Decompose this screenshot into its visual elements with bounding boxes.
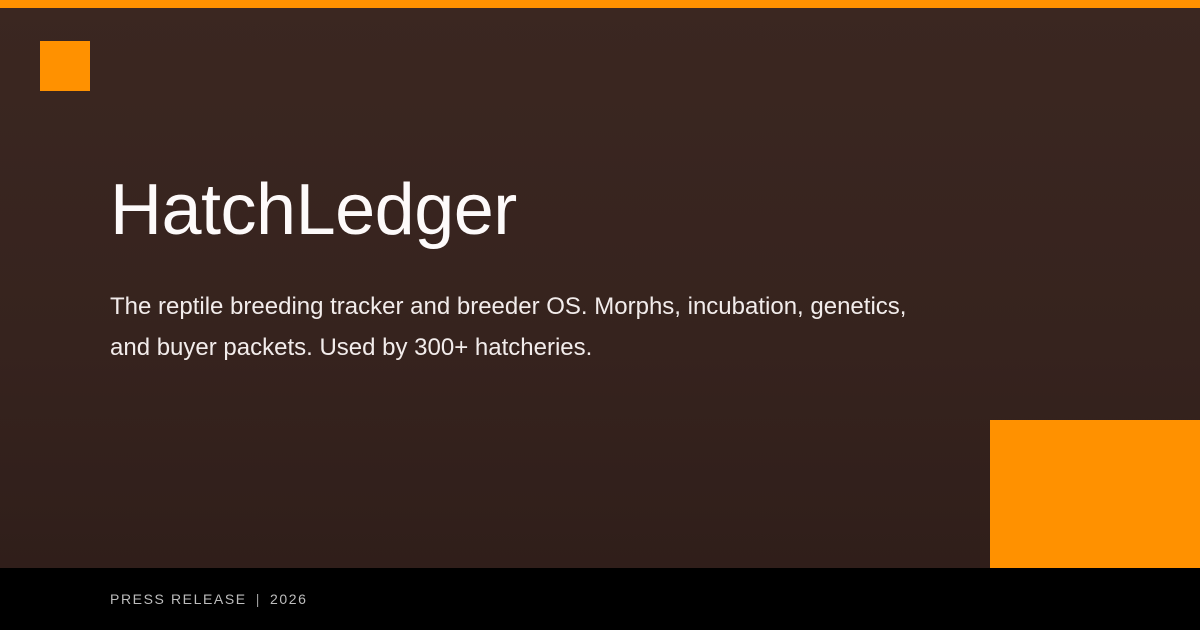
footer-year: 2026 (270, 591, 308, 607)
logo-mark-icon (40, 41, 90, 91)
top-accent-rule (0, 0, 1200, 8)
page-title: HatchLedger (110, 168, 517, 252)
footer-bar: PRESS RELEASE | 2026 (0, 568, 1200, 630)
accent-block-decoration (990, 420, 1200, 568)
footer-separator: | (247, 591, 270, 607)
footer-label: PRESS RELEASE (110, 591, 247, 607)
footer-meta: PRESS RELEASE | 2026 (110, 568, 308, 630)
page-subtitle: The reptile breeding tracker and breeder… (110, 286, 950, 368)
press-release-slide: HatchLedger The reptile breeding tracker… (0, 0, 1200, 630)
